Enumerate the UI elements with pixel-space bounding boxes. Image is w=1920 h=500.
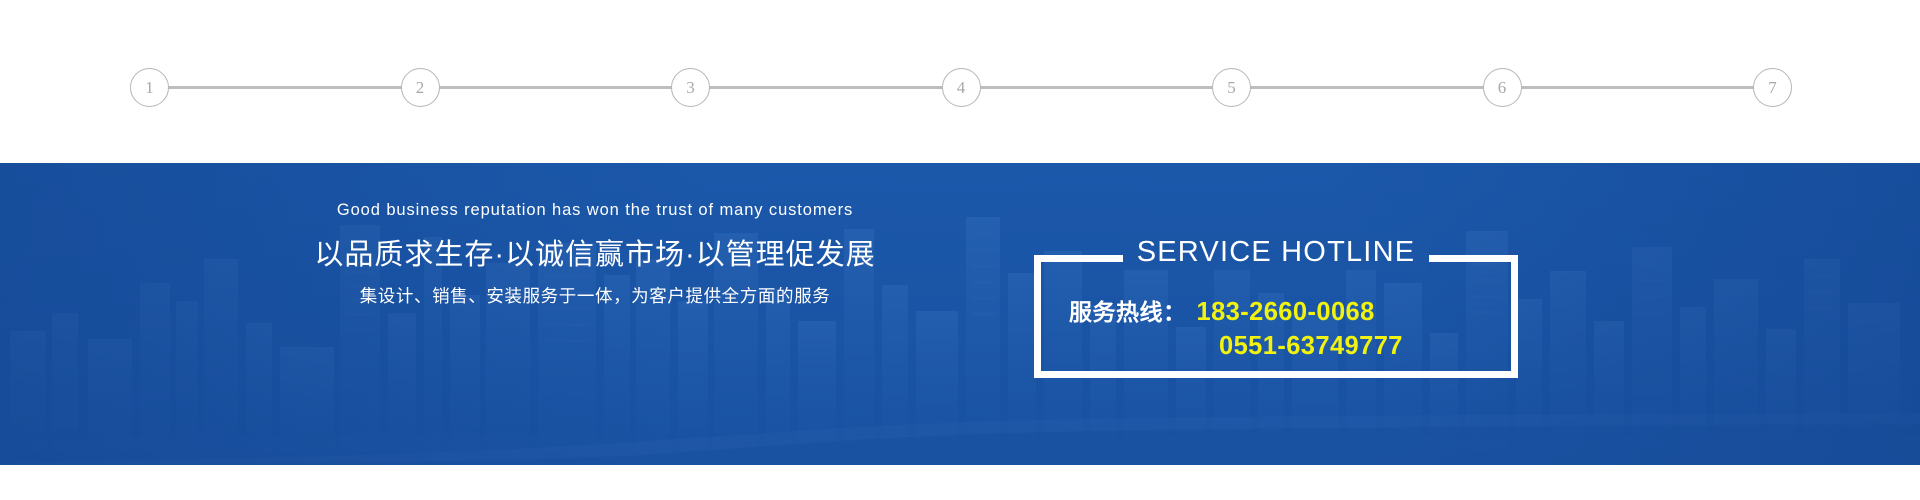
hotline-number-secondary[interactable]: 0551-63749777 xyxy=(1219,330,1403,364)
city-skyline-background xyxy=(0,163,1920,465)
step-node-4[interactable]: 4 xyxy=(942,68,981,107)
step-connector-1-2 xyxy=(168,86,402,89)
hotline-rows: 服务热线： 183-2660-0068 0551-63749777 xyxy=(1041,296,1511,363)
slogan-block: Good business reputation has won the tru… xyxy=(300,201,890,308)
step-node-label: 1 xyxy=(145,79,154,96)
slogan-chinese-sub: 集设计、销售、安装服务于一体，为客户提供全方面的服务 xyxy=(300,286,890,308)
step-node-label: 3 xyxy=(686,79,695,96)
step-node-7[interactable]: 7 xyxy=(1753,68,1792,107)
hotline-number-primary[interactable]: 183-2660-0068 xyxy=(1197,296,1375,330)
step-node-label: 4 xyxy=(957,79,966,96)
hotline-row-primary: 服务热线： 183-2660-0068 xyxy=(1069,296,1493,330)
hotline-title-wrap: SERVICE HOTLINE xyxy=(1041,234,1511,270)
service-hotline-box: SERVICE HOTLINE 服务热线： 183-2660-0068 0551… xyxy=(1034,255,1518,378)
step-connector-2-3 xyxy=(439,86,673,89)
service-hotline-title: SERVICE HOTLINE xyxy=(1123,234,1430,270)
step-connector-5-6 xyxy=(1250,86,1484,89)
step-node-3[interactable]: 3 xyxy=(671,68,710,107)
stepper-strip: 1 2 3 4 5 6 7 xyxy=(0,0,1920,163)
step-node-5[interactable]: 5 xyxy=(1212,68,1251,107)
step-connector-6-7 xyxy=(1521,86,1755,89)
hotline-label: 服务热线： xyxy=(1069,297,1187,327)
step-node-2[interactable]: 2 xyxy=(401,68,440,107)
slogan-english: Good business reputation has won the tru… xyxy=(300,201,890,221)
step-node-label: 5 xyxy=(1227,79,1236,96)
page-root: 1 2 3 4 5 6 7 xyxy=(0,0,1920,500)
step-node-1[interactable]: 1 xyxy=(130,68,169,107)
step-connector-4-5 xyxy=(980,86,1214,89)
banner-gradient-overlay xyxy=(0,163,1920,465)
step-node-label: 6 xyxy=(1498,79,1507,96)
hotline-row-secondary: 0551-63749777 xyxy=(1069,330,1493,364)
step-node-label: 2 xyxy=(416,79,425,96)
stepper: 1 2 3 4 5 6 7 xyxy=(130,67,1792,107)
step-node-label: 7 xyxy=(1768,79,1777,96)
promo-banner: Good business reputation has won the tru… xyxy=(0,163,1920,465)
step-node-6[interactable]: 6 xyxy=(1483,68,1522,107)
slogan-chinese-main: 以品质求生存·以诚信赢市场·以管理促发展 xyxy=(300,237,890,273)
step-connector-3-4 xyxy=(709,86,943,89)
